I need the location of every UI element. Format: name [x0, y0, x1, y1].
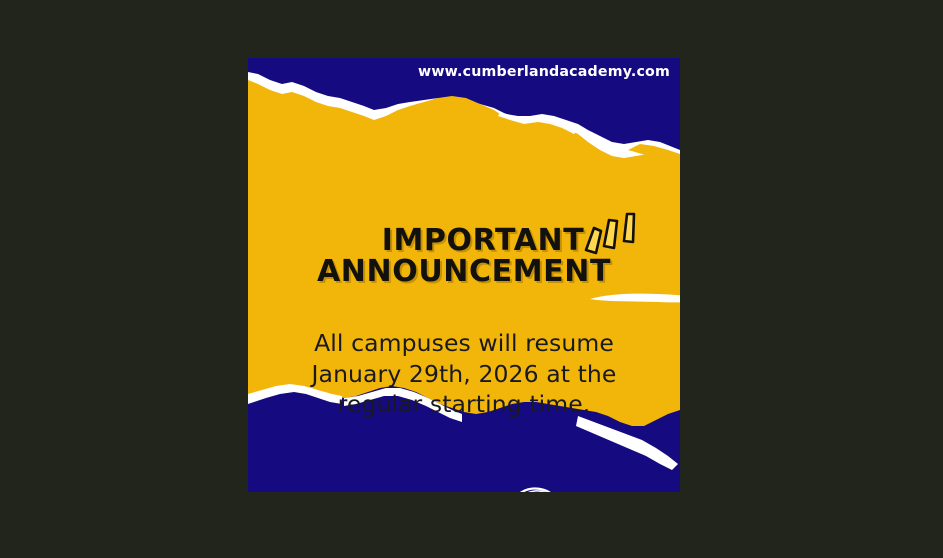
cumberland-academy-logo [498, 480, 570, 492]
brush-stroke-shape [590, 294, 680, 304]
burst-stroke-2 [604, 220, 617, 248]
upper-right-gold-overhang [628, 144, 680, 170]
white-brush-underline [588, 290, 680, 306]
headline-line-2: ANNOUNCEMENT [248, 257, 680, 288]
burst-stroke-1 [586, 228, 601, 253]
burst-stroke-3 [624, 214, 634, 242]
announcement-body-text: All campuses will resume January 29th, 2… [284, 328, 644, 420]
website-url-text: www.cumberlandacademy.com [418, 64, 670, 80]
c-monogram-icon [508, 489, 557, 492]
upper-white-sliver [498, 112, 580, 134]
announcement-poster: www.cumberlandacademy.com IMPORTANT ANNO… [248, 58, 680, 492]
exclamation-burst-icon [584, 210, 648, 256]
